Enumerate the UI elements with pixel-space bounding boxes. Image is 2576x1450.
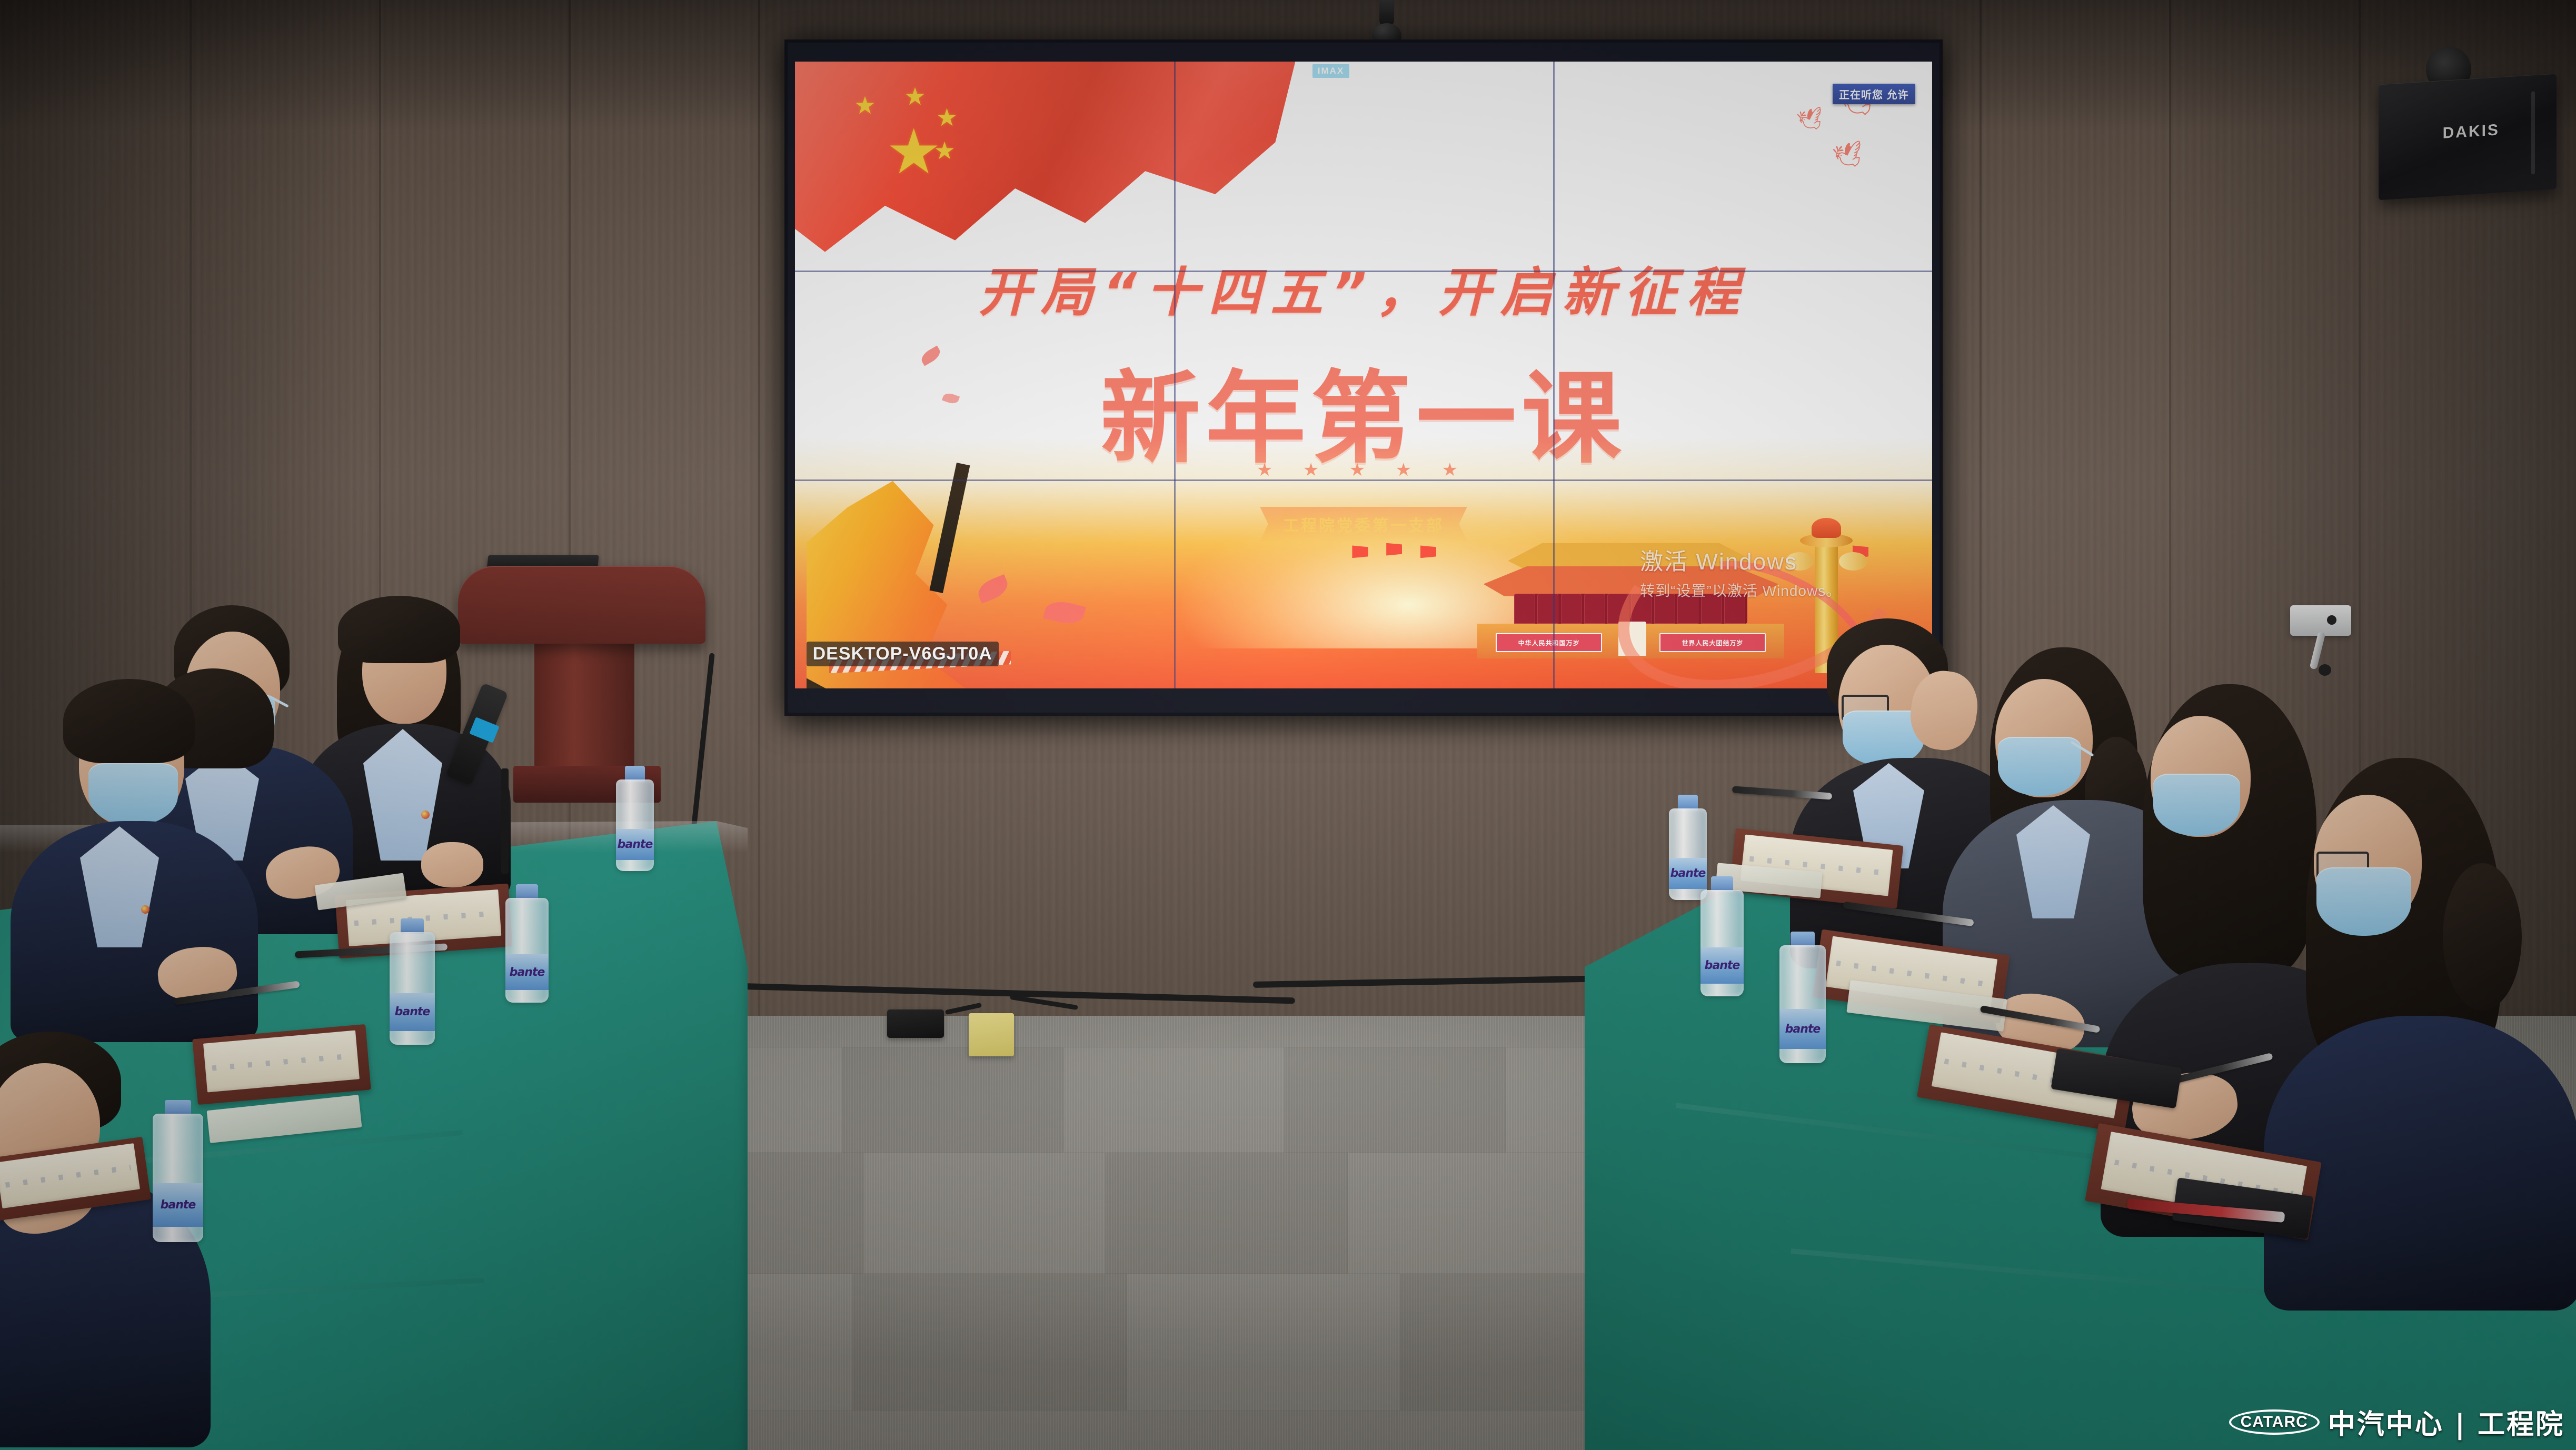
windows-activation-watermark: 激活 Windows 转到“设置”以激活 Windows。 bbox=[1640, 543, 1841, 601]
flag-star-small: ★ bbox=[936, 105, 958, 129]
presenter-hands bbox=[421, 842, 483, 887]
presentation-slide: ★ ★ ★ ★ ★ 🕊 🕊 🕊 开局“十四五”，开启新征程 新年第一课 ★ ★ … bbox=[795, 62, 1932, 688]
mini-flag bbox=[1386, 543, 1402, 556]
power-adapter bbox=[887, 1009, 944, 1038]
bottle-label: bante bbox=[153, 1183, 203, 1227]
podium-column bbox=[534, 639, 634, 776]
panel-seam-horizontal bbox=[795, 271, 1932, 272]
bottle-label: bante bbox=[1779, 1009, 1826, 1049]
wall-camera-tip bbox=[2319, 664, 2331, 676]
bottle-body: bante bbox=[505, 898, 549, 1003]
petal bbox=[974, 574, 1011, 604]
bottle-brand-text: bante bbox=[618, 838, 653, 851]
bottle-body: bante bbox=[1700, 890, 1744, 996]
panel-seam-horizontal bbox=[795, 479, 1932, 481]
imax-badge: IMAX bbox=[1312, 64, 1350, 78]
slide-headline: 开局“十四五”，开启新征程 bbox=[886, 249, 1841, 326]
face-mask bbox=[88, 763, 178, 825]
bottle-body: bante bbox=[153, 1114, 203, 1242]
flag-star-small: ★ bbox=[904, 84, 926, 108]
bottle-body: bante bbox=[616, 779, 654, 871]
petal bbox=[1043, 598, 1086, 628]
catarc-logo: CATARC bbox=[2229, 1409, 2320, 1435]
face-mask bbox=[2316, 867, 2411, 936]
party-pin bbox=[141, 905, 150, 914]
water-bottle[interactable]: bante bbox=[616, 766, 654, 871]
water-bottle[interactable]: bante bbox=[1779, 932, 1826, 1063]
panel-seam-vertical bbox=[1553, 62, 1555, 688]
floor-junction-box bbox=[969, 1013, 1014, 1056]
video-wall[interactable]: ★ ★ ★ ★ ★ 🕊 🕊 🕊 开局“十四五”，开启新征程 新年第一课 ★ ★ … bbox=[784, 39, 1943, 716]
water-bottle[interactable]: bante bbox=[153, 1100, 203, 1242]
water-bottle[interactable]: bante bbox=[390, 918, 435, 1045]
bottle-body: bante bbox=[390, 932, 435, 1045]
wall-camera-lens bbox=[2327, 615, 2336, 625]
bottle-label: bante bbox=[390, 993, 435, 1032]
listening-badge[interactable]: 正在听您 允许 bbox=[1833, 84, 1915, 104]
speaker-brand-label: DAKIS bbox=[2443, 121, 2500, 143]
party-pin bbox=[421, 811, 430, 819]
face-mask bbox=[2153, 774, 2240, 836]
flag-star-small: ★ bbox=[934, 138, 956, 163]
dove-icon: 🕊 bbox=[1831, 140, 1866, 170]
activation-line-2: 转到“设置”以激活 Windows。 bbox=[1640, 579, 1841, 601]
presenter-fringe bbox=[338, 596, 460, 663]
bottle-brand-text: bante bbox=[395, 1005, 430, 1018]
podium bbox=[458, 566, 705, 644]
wall-seam bbox=[758, 0, 760, 1042]
flag-star-small: ★ bbox=[854, 93, 876, 117]
gate-banner-left: 中华人民共和国万岁 bbox=[1496, 633, 1602, 653]
mini-flag bbox=[1420, 545, 1436, 558]
ponytail bbox=[2443, 863, 2522, 1011]
video-wall-screen[interactable]: ★ ★ ★ ★ ★ 🕊 🕊 🕊 开局“十四五”，开启新征程 新年第一课 ★ ★ … bbox=[795, 62, 1932, 688]
gate-merlon bbox=[1537, 594, 1558, 624]
panel-seam-vertical bbox=[1174, 62, 1176, 688]
bottle-label: bante bbox=[616, 829, 654, 860]
torch-stick bbox=[929, 463, 970, 593]
bottle-label: bante bbox=[1700, 947, 1744, 984]
gate-merlon bbox=[1584, 594, 1605, 624]
desktop-name-label: DESKTOP-V6GJT0A bbox=[807, 642, 999, 666]
dove-icon: 🕊 bbox=[1795, 107, 1826, 133]
photo-scene: DAKIS ★ ★ ★ ★ ★ 🕊 🕊 🕊 开局“十四五”，开启新征程 bbox=[0, 0, 2576, 1450]
face-mask bbox=[1998, 737, 2081, 796]
mic-stand-pole bbox=[501, 768, 509, 874]
water-bottle[interactable]: bante bbox=[505, 884, 549, 1003]
gate-merlon bbox=[1561, 594, 1582, 624]
gate-merlon bbox=[1514, 594, 1535, 624]
bottle-brand-text: bante bbox=[161, 1198, 196, 1212]
dakis-speaker: DAKIS bbox=[2379, 74, 2557, 201]
bottle-label: bante bbox=[505, 954, 549, 990]
mini-flag bbox=[1352, 545, 1368, 558]
bottle-body: bante bbox=[1779, 945, 1826, 1063]
speaker-slot bbox=[2531, 91, 2535, 175]
attendee-hair bbox=[63, 679, 195, 763]
water-bottle[interactable]: bante bbox=[1700, 876, 1744, 996]
bottle-brand-text: bante bbox=[510, 966, 545, 979]
activation-line-1: 激活 Windows bbox=[1640, 543, 1841, 576]
catarc-chinese-label: 中汽中心 | 工程院 bbox=[2328, 1402, 2564, 1442]
bottle-brand-text: bante bbox=[1705, 959, 1740, 972]
wall-camera bbox=[2290, 605, 2351, 636]
catarc-watermark: CATARC 中汽中心 | 工程院 bbox=[2229, 1402, 2564, 1442]
bottle-brand-text: bante bbox=[1785, 1023, 1821, 1036]
